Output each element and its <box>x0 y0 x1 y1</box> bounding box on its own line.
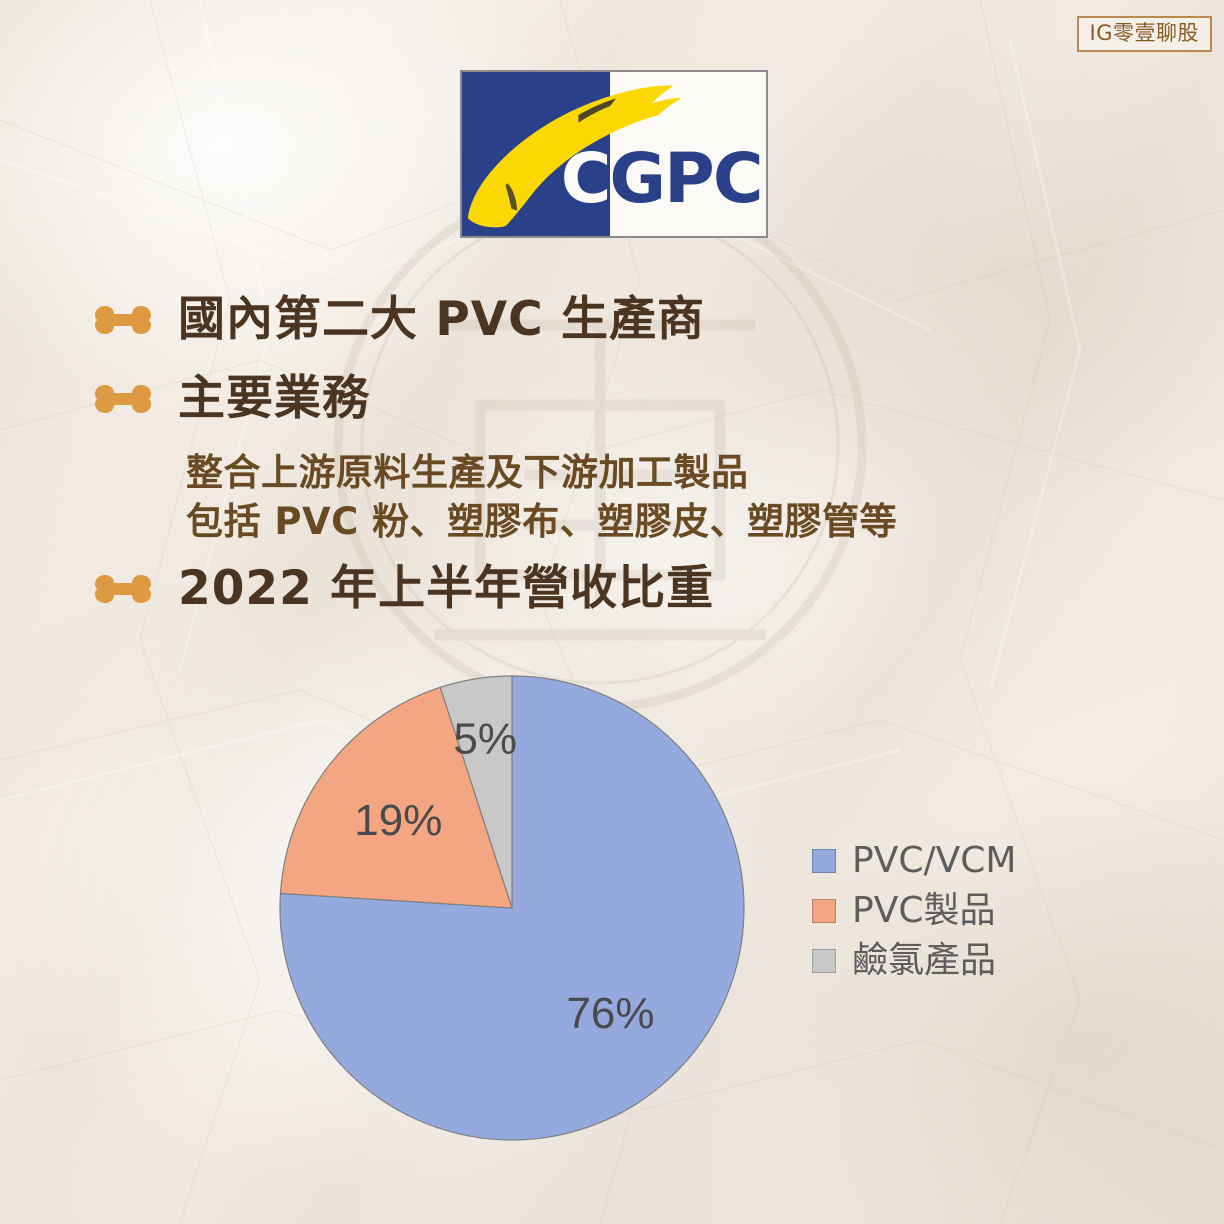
bone-icon <box>92 303 154 337</box>
chart-legend: PVC/VCM PVC製品 鹼氯產品 <box>812 836 1112 986</box>
legend-label-2: 鹼氯產品 <box>852 943 996 979</box>
sub-line-1: 整合上游原料生產及下游加工製品 <box>186 448 897 497</box>
bone-icon <box>92 382 154 416</box>
infographic-page: IG零壹聊股 CGPC 國內第二大 PVC 生產商 主要業務 整合上游原 <box>0 0 1224 1224</box>
legend-item-1[interactable]: PVC製品 <box>812 886 1112 936</box>
cgpc-wordmark: CGPC <box>561 139 762 219</box>
pie-chart-svg: 76%19%5% <box>250 650 780 1180</box>
business-description: 整合上游原料生產及下游加工製品 包括 PVC 粉、塑膠布、塑膠皮、塑膠管等 <box>186 448 897 546</box>
revenue-pie-chart: 76%19%5% <box>250 650 780 1180</box>
pie-label-2: 5% <box>453 714 517 763</box>
bullet-row-1: 國內第二大 PVC 生產商 <box>92 296 705 343</box>
bullet-label-1: 國內第二大 PVC 生產商 <box>178 296 705 343</box>
ig-handle-badge[interactable]: IG零壹聊股 <box>1077 16 1212 52</box>
legend-label-1: PVC製品 <box>852 893 995 929</box>
pie-label-0: 76% <box>566 989 654 1038</box>
legend-swatch-2 <box>812 949 836 973</box>
bullet-row-2: 主要業務 <box>92 375 370 422</box>
bullet-row-3: 2022 年上半年營收比重 <box>92 565 714 612</box>
legend-item-2[interactable]: 鹼氯產品 <box>812 936 1112 986</box>
legend-swatch-1 <box>812 899 836 923</box>
legend-label-0: PVC/VCM <box>852 843 1016 879</box>
cgpc-logo: CGPC <box>460 70 768 238</box>
cgpc-logo-graphic: CGPC <box>462 72 766 236</box>
pie-label-1: 19% <box>354 796 442 845</box>
bullet-label-2: 主要業務 <box>178 375 370 422</box>
seal-watermark <box>330 175 870 715</box>
bone-icon <box>92 572 154 606</box>
legend-swatch-0 <box>812 849 836 873</box>
legend-item-0[interactable]: PVC/VCM <box>812 836 1112 886</box>
bullet-label-3: 2022 年上半年營收比重 <box>178 565 714 612</box>
sub-line-2: 包括 PVC 粉、塑膠布、塑膠皮、塑膠管等 <box>186 497 897 546</box>
